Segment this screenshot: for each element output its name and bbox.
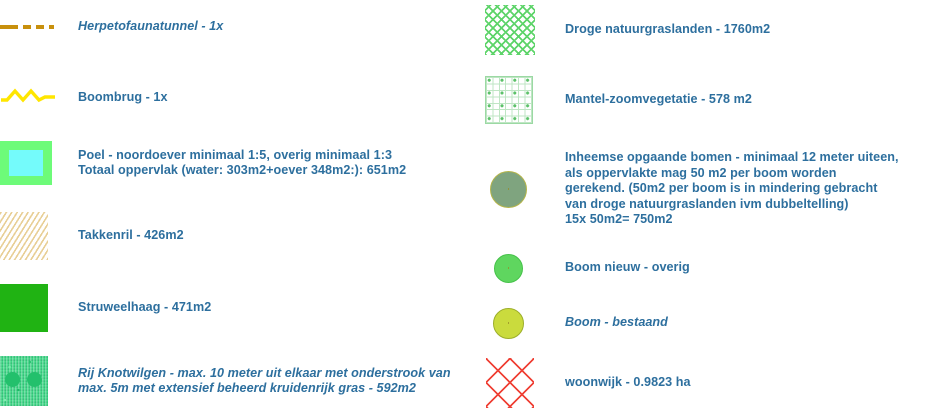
legend-swatch-boombrug [0, 87, 78, 109]
legend-label-inheemse-opgaande-bomen: Inheemse opgaande bomen - minimaal 12 me… [565, 150, 899, 227]
speckled-green-swatch-icon [0, 356, 48, 406]
green-crosshatch-swatch-icon [485, 5, 535, 55]
green-dotted-grid-swatch-icon [485, 76, 533, 124]
legend-label-takkenril: Takkenril - 426m2 [78, 228, 184, 243]
legend-swatch-herpetofaunatunnel [0, 25, 78, 29]
legend-swatch-droge-natuurgraslanden [470, 5, 565, 55]
legend-label-boom-nieuw-overig: Boom nieuw - overig [565, 260, 690, 275]
legend-item-droge-natuurgraslanden[interactable]: Droge natuurgraslanden - 1760m2 [470, 5, 928, 55]
solid-green-swatch-icon [0, 284, 48, 332]
legend-right-column: Droge natuurgraslanden - 1760m2 Mantel-z… [470, 0, 928, 414]
tree-circle-icon [494, 254, 523, 283]
legend-label-droge-natuurgraslanden: Droge natuurgraslanden - 1760m2 [565, 22, 770, 37]
legend-swatch-boom-nieuw-overig [470, 254, 565, 283]
legend-item-boombrug[interactable]: Boombrug - 1x [0, 84, 470, 112]
legend-label-rij-knotwilgen: Rij Knotwilgen - max. 10 meter uit elkaa… [78, 366, 451, 397]
legend-item-rij-knotwilgen[interactable]: Rij Knotwilgen - max. 10 meter uit elkaa… [0, 356, 470, 406]
zigzag-line-icon [0, 87, 56, 109]
legend-item-herpetofaunatunnel[interactable]: Herpetofaunatunnel - 1x [0, 14, 470, 40]
legend-swatch-struweelhaag [0, 284, 78, 332]
legend-item-struweelhaag[interactable]: Struweelhaag - 471m2 [0, 284, 470, 332]
legend-item-boom-bestaand[interactable]: Boom - bestaand [470, 307, 928, 339]
legend-label-boom-bestaand: Boom - bestaand [565, 315, 668, 330]
legend-swatch-poel [0, 141, 78, 185]
legend-label-woonwijk: woonwijk - 0.9823 ha [565, 375, 691, 390]
legend-swatch-boom-bestaand [470, 308, 565, 339]
legend-left-column: Herpetofaunatunnel - 1x Boombrug - 1x Po… [0, 0, 470, 414]
legend-item-inheemse-opgaande-bomen[interactable]: Inheemse opgaande bomen - minimaal 12 me… [470, 148, 928, 230]
map-legend: Herpetofaunatunnel - 1x Boombrug - 1x Po… [0, 0, 928, 414]
legend-item-boom-nieuw-overig[interactable]: Boom nieuw - overig [470, 253, 928, 283]
legend-label-herpetofaunatunnel: Herpetofaunatunnel - 1x [78, 19, 223, 34]
legend-item-mantel-zoomvegetatie[interactable]: Mantel-zoomvegetatie - 578 m2 [470, 76, 928, 124]
tree-circle-icon [493, 308, 524, 339]
legend-swatch-rij-knotwilgen [0, 356, 78, 406]
legend-swatch-takkenril [0, 212, 78, 260]
legend-item-poel[interactable]: Poel - noordoever minimaal 1:5, overig m… [0, 140, 470, 186]
diagonal-hatch-swatch-icon [0, 212, 48, 260]
pond-swatch-icon [0, 141, 52, 185]
legend-swatch-woonwijk [470, 358, 565, 408]
tree-circle-icon [490, 171, 527, 208]
legend-item-woonwijk[interactable]: woonwijk - 0.9823 ha [470, 358, 928, 408]
legend-swatch-inheemse-opgaande-bomen [470, 171, 565, 208]
legend-label-mantel-zoomvegetatie: Mantel-zoomvegetatie - 578 m2 [565, 92, 752, 107]
legend-item-takkenril[interactable]: Takkenril - 426m2 [0, 212, 470, 260]
dashed-line-icon [0, 25, 54, 29]
legend-swatch-mantel-zoomvegetatie [470, 76, 565, 124]
legend-label-boombrug: Boombrug - 1x [78, 90, 168, 105]
red-crosshatch-swatch-icon [486, 358, 534, 408]
legend-label-poel: Poel - noordoever minimaal 1:5, overig m… [78, 148, 406, 179]
legend-label-struweelhaag: Struweelhaag - 471m2 [78, 300, 211, 315]
